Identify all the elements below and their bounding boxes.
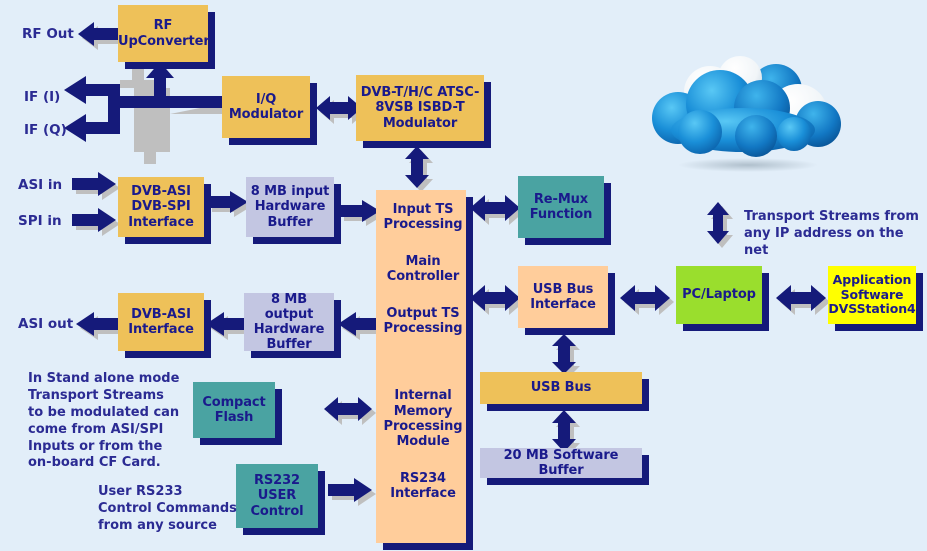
block-label: 20 MB Software Buffer — [480, 448, 642, 478]
main-controller-section-internal-memory: Internal Memory Processing Module — [376, 388, 470, 448]
block-pc-laptop[interactable]: PC/Laptop — [676, 266, 762, 324]
main-controller-section-input-ts: Input TS Processing — [376, 202, 470, 232]
label-if-q: IF (Q) — [24, 122, 67, 138]
block-input-hardware-buffer[interactable]: 8 MB input Hardware Buffer — [246, 177, 334, 237]
block-label: DVB-ASI Interface — [118, 307, 204, 337]
arrow-usb-bus-to-software-buffer — [551, 410, 577, 452]
block-label: USB Bus Interface — [518, 282, 608, 312]
main-controller-section-rs234: RS234 Interface — [376, 471, 470, 501]
block-usb-bus-interface[interactable]: USB Bus Interface — [518, 266, 608, 328]
arrow-output-buffer-to-asi-interface — [206, 312, 248, 336]
block-label: Compact Flash — [193, 395, 275, 425]
arrow-main-to-usb-interface — [470, 284, 520, 312]
block-software-buffer[interactable]: 20 MB Software Buffer — [480, 448, 642, 478]
label-if-i: IF (I) — [24, 89, 60, 105]
arrow-main-to-remux — [470, 194, 520, 222]
block-label: RS232 USER Control — [236, 473, 318, 518]
arrow-main-to-output-buffer — [338, 312, 380, 336]
arrow-network-cloud — [706, 202, 730, 244]
block-label: 8 MB input Hardware Buffer — [246, 184, 334, 229]
block-rf-upconverter[interactable]: RF UpConverter — [118, 5, 208, 62]
block-label: RF UpConverter — [116, 18, 210, 48]
main-controller-section-main-controller: Main Controller — [376, 254, 470, 284]
block-compact-flash[interactable]: Compact Flash — [193, 382, 275, 438]
block-label: I/Q Modulator — [222, 92, 310, 122]
block-rs232-user-control[interactable]: RS232 USER Control — [236, 464, 318, 528]
network-cloud — [648, 52, 844, 184]
label-rf-out: RF Out — [22, 26, 74, 42]
block-label: DVB-T/H/C ATSC-8VSB ISBD-T Modulator — [356, 85, 484, 130]
arrow-interface-to-input-buffer — [208, 191, 248, 213]
arrow-modulator-to-input-ts — [404, 146, 430, 188]
block-main-controller-column[interactable]: Input TS Processing Main Controller Outp… — [376, 190, 466, 543]
note-network-transport-streams: Transport Streams from any IP address on… — [744, 208, 927, 259]
arrow-input-buffer-to-main — [340, 200, 380, 222]
note-rs233-control: User RS233 Control Commands from any sou… — [98, 484, 237, 535]
note-stand-alone-mode: In Stand alone mode Transport Streams to… — [28, 371, 179, 472]
label-asi-out: ASI out — [18, 316, 73, 332]
block-label: Re-Mux Function — [518, 192, 604, 222]
block-iq-modulator[interactable]: I/Q Modulator — [222, 76, 310, 138]
arrow-pc-to-application — [776, 284, 826, 312]
block-label: PC/Laptop — [676, 287, 762, 302]
arrow-usb-interface-to-bus — [551, 334, 577, 374]
arrow-if-branch-bus — [60, 62, 226, 138]
label-asi-in: ASI in — [18, 177, 62, 193]
block-label: 8 MB output Hardware Buffer — [244, 292, 334, 352]
block-label: DVB-ASI DVB-SPI Interface — [118, 184, 204, 229]
block-main-modulator[interactable]: DVB-T/H/C ATSC-8VSB ISBD-T Modulator — [356, 75, 484, 141]
arrow-asi-out — [76, 312, 120, 336]
block-usb-bus[interactable]: USB Bus — [480, 372, 642, 404]
block-dvb-asi-spi-interface[interactable]: DVB-ASI DVB-SPI Interface — [118, 177, 204, 237]
block-label: Application Software DVSStation4 — [826, 273, 917, 317]
main-controller-section-output-ts: Output TS Processing — [376, 306, 470, 336]
arrow-asi-in — [72, 172, 116, 196]
block-label: USB Bus — [480, 380, 642, 395]
diagram-canvas: RF UpConverter I/Q Modulator DVB-T/H/C A… — [0, 0, 927, 551]
arrow-usb-interface-to-pc — [620, 284, 670, 312]
block-dvb-asi-interface[interactable]: DVB-ASI Interface — [118, 293, 204, 351]
arrow-rs232-to-rs234 — [328, 478, 372, 502]
arrow-compact-flash-to-memory — [324, 396, 372, 422]
label-spi-in: SPI in — [18, 213, 62, 229]
block-output-hardware-buffer[interactable]: 8 MB output Hardware Buffer — [244, 293, 334, 351]
arrow-spi-in — [72, 208, 116, 232]
block-application-software[interactable]: Application Software DVSStation4 — [828, 266, 916, 324]
block-remux-function[interactable]: Re-Mux Function — [518, 176, 604, 238]
